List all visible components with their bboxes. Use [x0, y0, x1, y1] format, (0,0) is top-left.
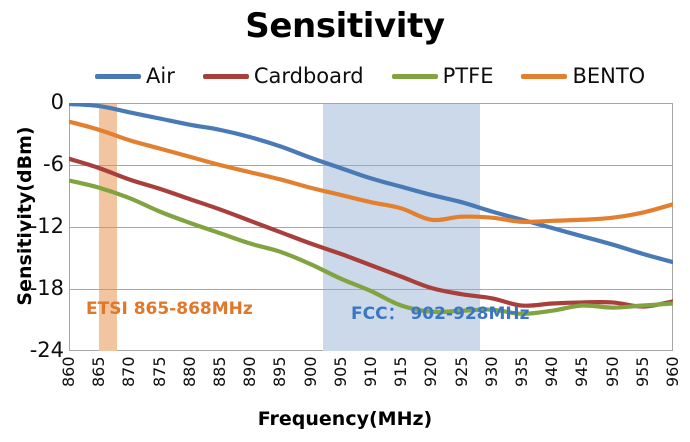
- x-tick-label: 940: [541, 356, 563, 402]
- chart-root: Sensitivity AirCardboardPTFEBENTO Sensit…: [0, 0, 690, 442]
- x-axis-title: Frequency(MHz): [0, 408, 690, 430]
- x-tick-label: 960: [662, 356, 684, 402]
- x-tick-label: 915: [390, 356, 412, 402]
- x-tick-label: 945: [571, 356, 593, 402]
- y-tick-label: -24: [8, 340, 64, 361]
- series-line-bento: [69, 122, 673, 222]
- legend-item-label: PTFE: [443, 66, 494, 87]
- x-tick-label: 910: [360, 356, 382, 402]
- x-tick-label: 950: [602, 356, 624, 402]
- legend-item-bento[interactable]: BENTO: [521, 66, 645, 87]
- chart-legend: AirCardboardPTFEBENTO: [95, 63, 675, 89]
- x-tick-label: 905: [330, 356, 352, 402]
- y-tick-label: -6: [8, 154, 64, 175]
- x-tick-label: 930: [481, 356, 503, 402]
- x-tick-label: 890: [239, 356, 261, 402]
- y-tick-label: -12: [8, 216, 64, 237]
- x-tick-label: 895: [269, 356, 291, 402]
- legend-item-label: Air: [146, 66, 175, 87]
- x-tick-label: 860: [58, 356, 80, 402]
- legend-item-air[interactable]: Air: [95, 66, 175, 87]
- series-line-air: [69, 104, 673, 262]
- annotation-fcc: FCC： 902-928MHz: [351, 299, 530, 324]
- legend-item-ptfe[interactable]: PTFE: [392, 66, 494, 87]
- annotation-etsi: ETSI 865-868MHz: [86, 299, 253, 319]
- legend-swatch-icon: [203, 74, 249, 79]
- x-tick-label: 880: [179, 356, 201, 402]
- x-tick-label: 935: [511, 356, 533, 402]
- y-tick-label: -18: [8, 278, 64, 299]
- legend-item-cardboard[interactable]: Cardboard: [203, 66, 364, 87]
- x-tick-label: 900: [300, 356, 322, 402]
- page-title: Sensitivity: [0, 6, 690, 46]
- legend-swatch-icon: [95, 74, 141, 79]
- x-tick-label: 955: [632, 356, 654, 402]
- legend-swatch-icon: [392, 74, 438, 79]
- y-axis-tick-labels: -24-18-12-60: [0, 103, 64, 351]
- x-axis-tick-labels: 8608658708758808858908959009059109159209…: [69, 356, 673, 404]
- series-line-cardboard: [69, 159, 673, 307]
- x-tick-label: 865: [88, 356, 110, 402]
- x-tick-label: 870: [118, 356, 140, 402]
- legend-item-label: BENTO: [572, 66, 645, 87]
- x-tick-label: 925: [451, 356, 473, 402]
- legend-item-label: Cardboard: [254, 66, 364, 87]
- y-tick-label: 0: [8, 92, 64, 113]
- x-tick-label: 920: [420, 356, 442, 402]
- x-tick-label: 885: [209, 356, 231, 402]
- x-tick-label: 875: [149, 356, 171, 402]
- legend-swatch-icon: [521, 74, 567, 79]
